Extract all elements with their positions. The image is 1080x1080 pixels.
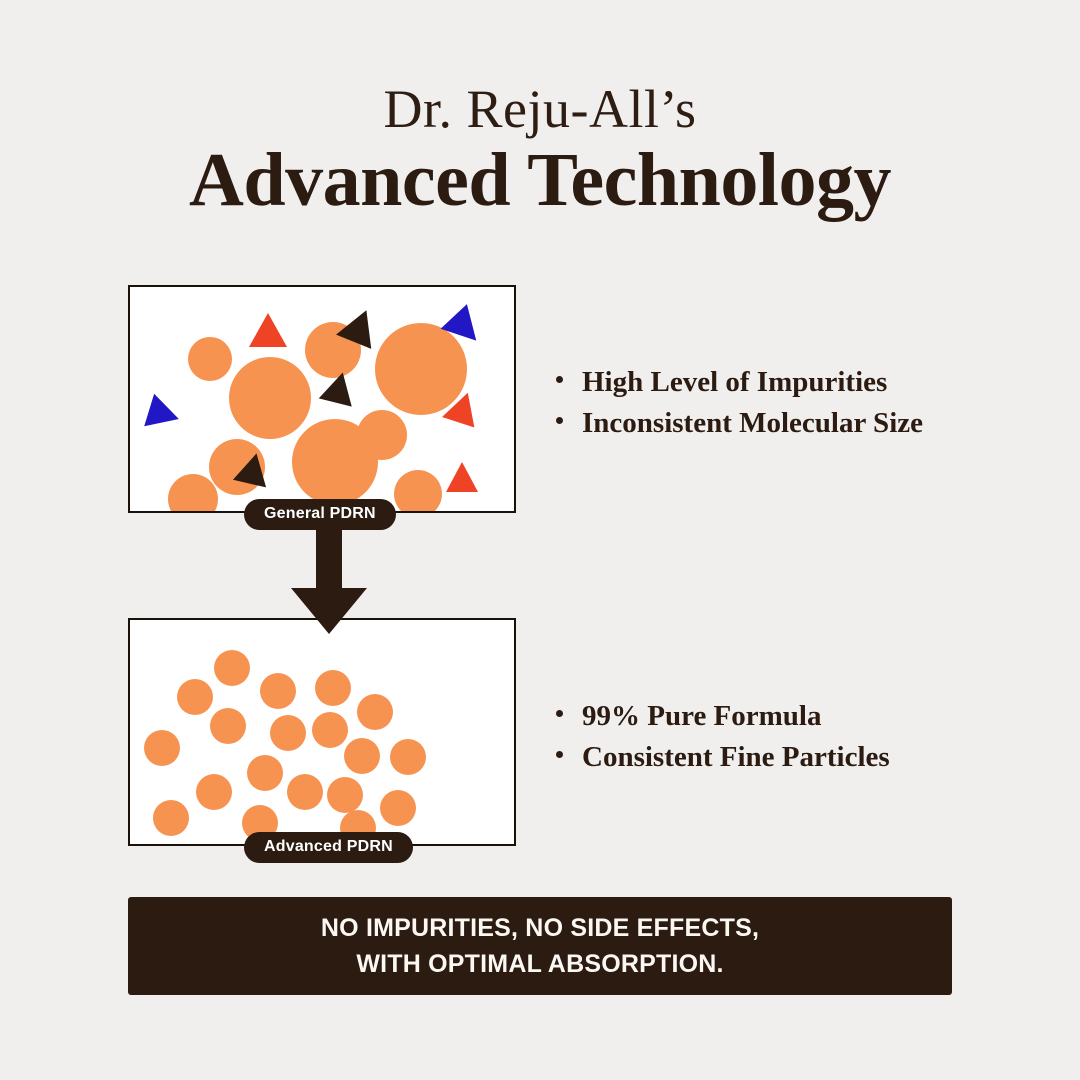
bullet-list-advanced: 99% Pure FormulaConsistent Fine Particle… (556, 696, 890, 778)
molecule-circle (214, 650, 250, 686)
molecule-circle (229, 357, 311, 439)
banner-line-2: WITH OPTIMAL ABSORPTION. (356, 946, 723, 982)
molecule-circle (390, 739, 426, 775)
molecule-circle (188, 337, 232, 381)
molecule-circle (260, 673, 296, 709)
molecule-illustration-general (130, 287, 514, 511)
molecule-circle (380, 790, 416, 826)
bullet-dot-icon (556, 417, 563, 424)
molecule-circle (177, 679, 213, 715)
molecule-circle (144, 730, 180, 766)
molecule-circle (312, 712, 348, 748)
molecule-circle (292, 419, 378, 505)
bullet-item-general-label: Inconsistent Molecular Size (582, 403, 923, 444)
bullet-item-general-label: High Level of Impurities (582, 362, 887, 403)
bullet-dot-icon (556, 710, 563, 717)
molecule-circle (270, 715, 306, 751)
molecule-circle (168, 474, 218, 511)
title-line-2: Advanced Technology (0, 136, 1080, 224)
molecule-circle (344, 738, 380, 774)
panel-general-pdrn (128, 285, 516, 513)
molecule-circle (315, 670, 351, 706)
molecule-circle (247, 755, 283, 791)
impurity-triangle (446, 462, 478, 492)
bullet-item-general: Inconsistent Molecular Size (556, 403, 923, 444)
bullet-dot-icon (556, 376, 563, 383)
summary-banner: NO IMPURITIES, NO SIDE EFFECTS, WITH OPT… (128, 897, 952, 995)
panel-advanced-pdrn (128, 618, 516, 846)
bullet-item-general: High Level of Impurities (556, 362, 923, 403)
flow-arrow-down-icon (291, 530, 367, 634)
molecule-illustration-advanced (130, 620, 514, 844)
impurity-triangle (249, 313, 287, 347)
badge-advanced-pdrn: Advanced PDRN (244, 832, 413, 863)
title-line-1: Dr. Reju-All’s (0, 78, 1080, 140)
bullet-item-advanced-label: Consistent Fine Particles (582, 737, 890, 778)
badge-general-pdrn: General PDRN (244, 499, 396, 530)
molecule-circle (394, 470, 442, 511)
molecule-circle (153, 800, 189, 836)
molecule-circle (287, 774, 323, 810)
bullet-item-advanced: Consistent Fine Particles (556, 737, 890, 778)
molecule-circle (357, 694, 393, 730)
bullet-dot-icon (556, 751, 563, 758)
bullet-item-advanced: 99% Pure Formula (556, 696, 890, 737)
banner-line-1: NO IMPURITIES, NO SIDE EFFECTS, (321, 910, 759, 946)
bullet-item-advanced-label: 99% Pure Formula (582, 696, 822, 737)
impurity-triangle (319, 368, 359, 406)
molecule-circle (210, 708, 246, 744)
molecule-circle (196, 774, 232, 810)
page-title: Dr. Reju-All’s Advanced Technology (0, 78, 1080, 224)
molecule-circle (327, 777, 363, 813)
impurity-triangle (144, 394, 184, 436)
bullet-list-general: High Level of ImpuritiesInconsistent Mol… (556, 362, 923, 444)
